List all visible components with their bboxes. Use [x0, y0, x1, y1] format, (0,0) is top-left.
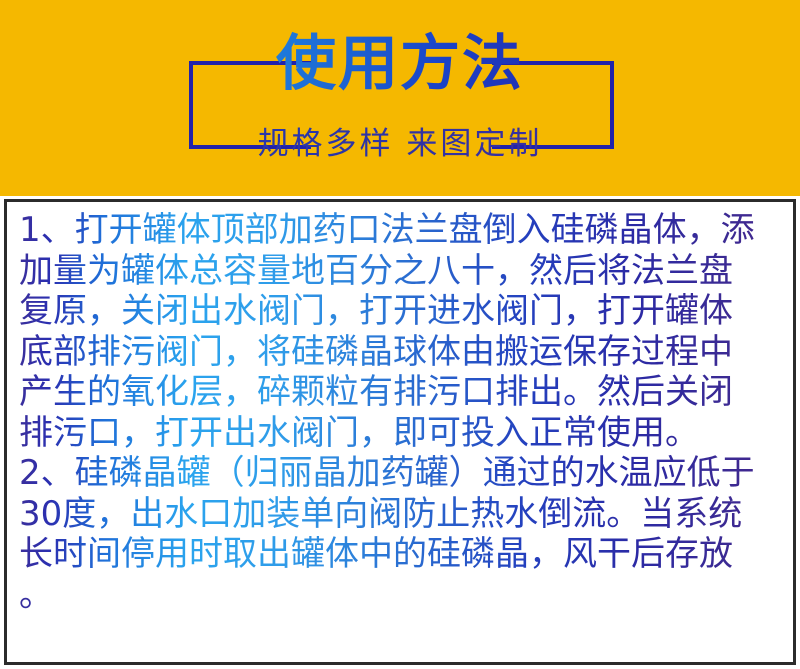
page-title: 使用方法 — [0, 28, 800, 100]
instructions-panel: 1、打开罐体顶部加药口法兰盘倒入硅磷晶体，添 加量为罐体总容量地百分之八十，然后… — [4, 199, 796, 665]
instruction-line: 1、打开罐体顶部加药口法兰盘倒入硅磷晶体，添 — [19, 210, 787, 251]
instruction-line: 加量为罐体总容量地百分之八十，然后将法兰盘 — [19, 251, 787, 292]
instruction-line: 底部排污阀门，将硅磷晶球体由搬运保存过程中 — [19, 332, 787, 373]
product-instruction-page: 使用方法 规格多样 来图定制 1、打开罐体顶部加药口法兰盘倒入硅磷晶体，添 加量… — [0, 0, 800, 669]
instruction-line: 。 — [19, 575, 787, 616]
instruction-line: 长时间停用时取出罐体中的硅磷晶，风干后存放 — [19, 534, 787, 575]
instruction-line: 复原，关闭出水阀门，打开进水阀门，打开罐体 — [19, 291, 787, 332]
instruction-line: 2、硅磷晶罐（归丽晶加药罐）通过的水温应低于 — [19, 453, 787, 494]
instruction-line: 排污口，打开出水阀门，即可投入正常使用。 — [19, 413, 787, 454]
instruction-line: 产生的氧化层，碎颗粒有排污口排出。然后关闭 — [19, 372, 787, 413]
header-banner: 使用方法 规格多样 来图定制 — [0, 0, 800, 196]
page-subtitle: 规格多样 来图定制 — [0, 122, 800, 166]
instruction-line: 30度，出水口加装单向阀防止热水倒流。当系统 — [19, 494, 787, 535]
instructions-text: 1、打开罐体顶部加药口法兰盘倒入硅磷晶体，添 加量为罐体总容量地百分之八十，然后… — [19, 210, 787, 615]
